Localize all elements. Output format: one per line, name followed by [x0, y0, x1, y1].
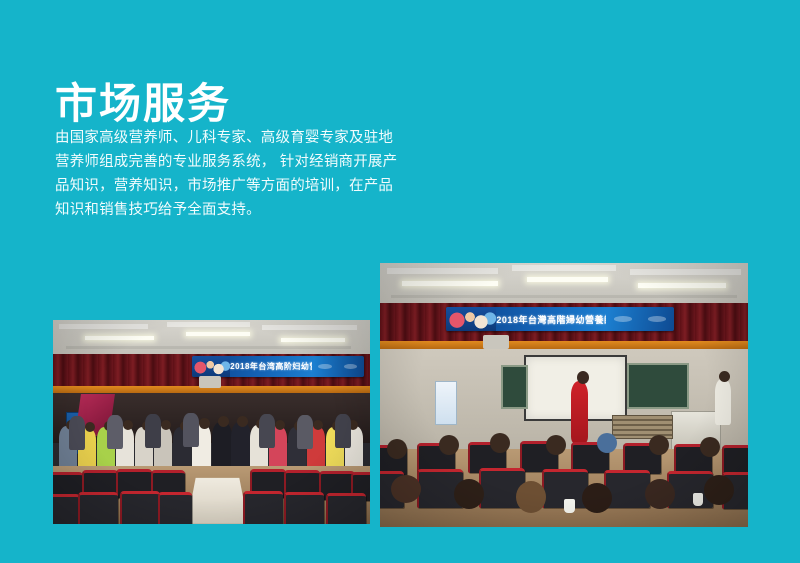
- stage-banner: 2018年台湾高阶妇幼营养师培训班: [192, 356, 363, 377]
- ceiling: [380, 263, 748, 307]
- description-line-1: 由国家高级营养师、儿科专家、高级育婴专家及驻地: [55, 126, 400, 150]
- description-line-3: 品知识，营养知识，市场推广等方面的培训，在产品: [55, 174, 400, 198]
- chalkboard-left: [501, 365, 527, 409]
- ceiling: [53, 320, 370, 358]
- banner-mascot-art: [446, 307, 496, 331]
- speaker-head: [577, 371, 589, 384]
- gallery-photo-lecture: 2018年台灣高階婦幼營養師培訓班: [380, 263, 748, 527]
- description-line-4: 知识和销售技巧给予全面支持。: [55, 198, 400, 222]
- stage-banner: 2018年台灣高階婦幼營養師培訓班: [446, 307, 674, 331]
- gallery-photo-group: 2018年台湾高阶妇幼营养师培训班: [53, 320, 370, 524]
- chalkboard-right: [627, 363, 690, 409]
- projector: [483, 335, 509, 349]
- drink-cup: [693, 493, 703, 506]
- speaker: [571, 381, 588, 443]
- assistant: [715, 379, 731, 425]
- standing-poster: [435, 381, 457, 425]
- lecture-photo-scene: 2018年台灣高階婦幼營養師培訓班: [380, 263, 748, 527]
- page-title: 市场服务: [55, 80, 231, 127]
- group-photo-scene: 2018年台湾高阶妇幼营养师培训班: [53, 320, 370, 524]
- center-aisle: [187, 478, 248, 524]
- banner-text: 2018年台湾高阶妇幼营养师培训班: [230, 361, 312, 372]
- banner-logos: [606, 314, 674, 323]
- projector: [199, 376, 221, 388]
- banner-mascot-art: [192, 356, 230, 377]
- banner-text: 2018年台灣高階婦幼營養師培訓班: [496, 313, 606, 326]
- stage-edge: [380, 341, 748, 349]
- section-description: 由国家高级营养师、儿科专家、高级育婴专家及驻地 营养师组成完善的专业服务系统， …: [55, 126, 400, 222]
- drink-cup: [564, 499, 575, 513]
- market-service-section: 市场服务 由国家高级营养师、儿科专家、高级育婴专家及驻地 营养师组成完善的专业服…: [0, 0, 800, 563]
- banner-logos: [312, 363, 363, 371]
- description-line-2: 营养师组成完善的专业服务系统， 针对经销商开展产: [55, 150, 400, 174]
